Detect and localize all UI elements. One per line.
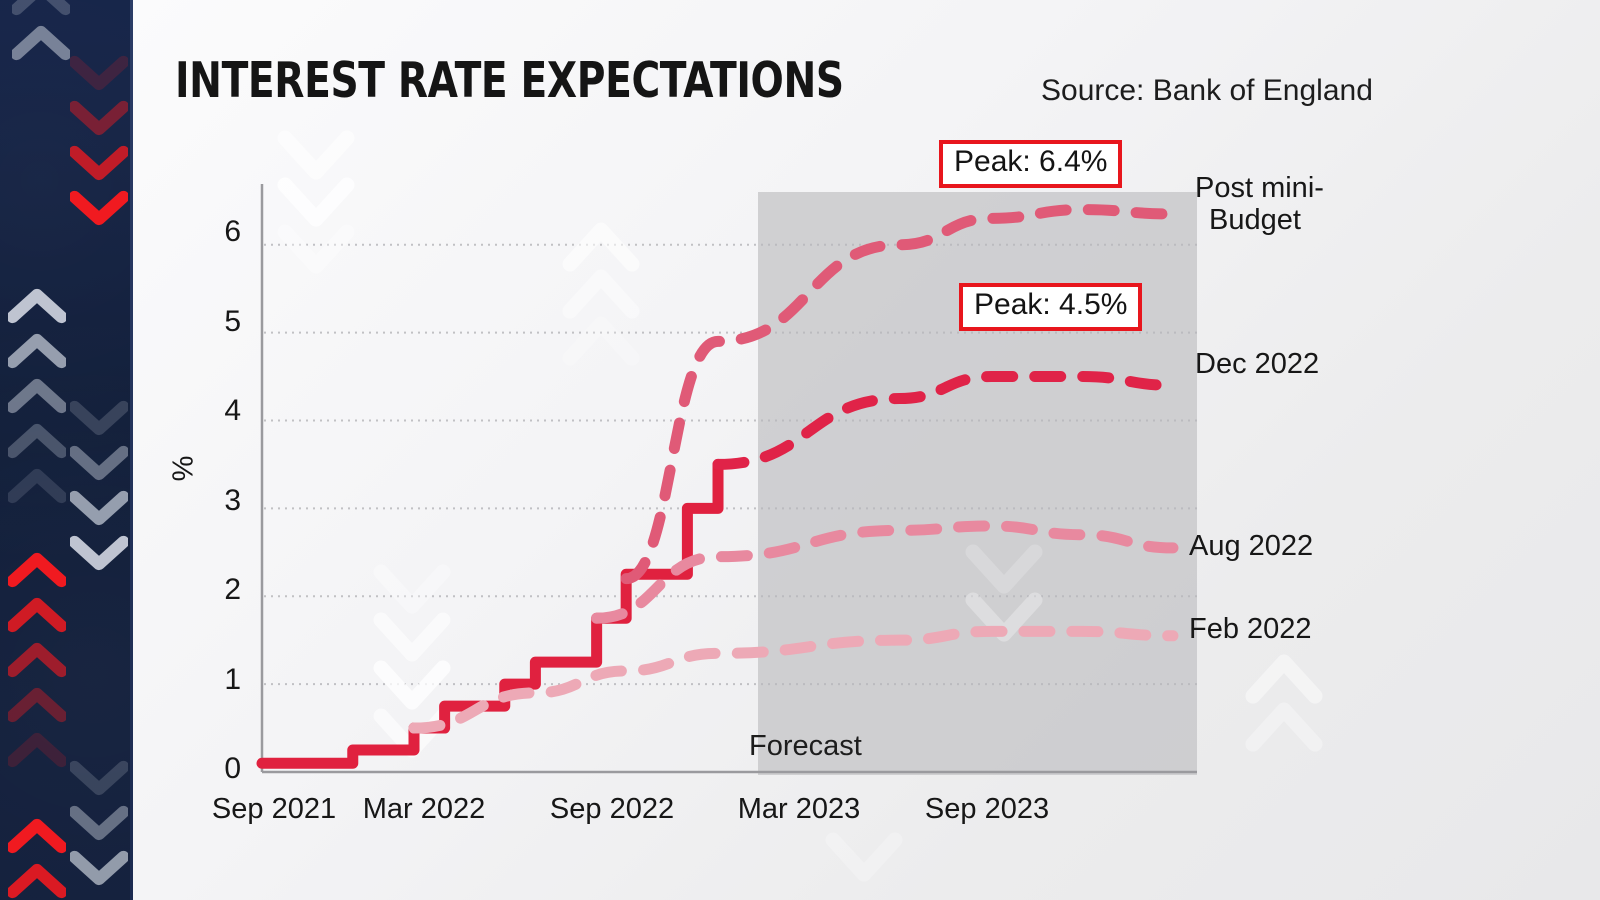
watermark-chevron [570, 230, 632, 264]
chevron-red-up-1 [8, 597, 66, 633]
watermark-chevron [381, 620, 443, 654]
chevron-grey-up-mid-2 [8, 378, 66, 414]
chevron-grey-down-mid-0 [70, 400, 128, 436]
watermark-chevron [1253, 662, 1315, 696]
y-tick-1: 1 [195, 663, 241, 697]
chevron-grey-up-mid-0 [8, 288, 66, 324]
series-label-feb-2022: Feb 2022 [1189, 613, 1312, 645]
chevron-red-down-2 [70, 145, 128, 181]
chevron-grey-down-bot-2 [70, 850, 128, 886]
chevron-grey-down-mid-1 [70, 445, 128, 481]
chevron-red-up-2 [8, 642, 66, 678]
line-chart-plot [133, 0, 1600, 900]
series-label-post-mini-budget: Post mini- Budget [1195, 172, 1324, 237]
chevron-red-down-3 [70, 190, 128, 226]
chevron-grey-down-bot-1 [70, 805, 128, 841]
chevron-red-down-1 [70, 100, 128, 136]
y-tick-0: 0 [195, 752, 241, 786]
watermark-chevron [1253, 710, 1315, 744]
chevron-red-down-0 [70, 55, 128, 91]
series-label-line-1: Post mini- [1195, 172, 1324, 204]
chevron-red-up-0 [8, 552, 66, 588]
y-axis-title: % [167, 456, 200, 482]
y-tick-4: 4 [195, 394, 241, 428]
y-tick-5: 5 [195, 305, 241, 339]
chevron-grey-up-top-0 [12, 0, 70, 16]
chevron-grey-up-mid-1 [8, 333, 66, 369]
chevron-grey-up-mid-3 [8, 423, 66, 459]
chevron-grey-down-bot-0 [70, 760, 128, 796]
series-label-line-2: Budget [1195, 204, 1324, 236]
decorative-sidebar [0, 0, 133, 900]
screenshot-root: INTEREST RATE EXPECTATIONS Source: Bank … [0, 0, 1600, 900]
watermark-chevron [570, 277, 632, 311]
watermark-chevron [285, 185, 347, 219]
watermark-chevron [570, 324, 632, 358]
chevron-grey-down-mid-2 [70, 490, 128, 526]
watermark-chevron [833, 840, 895, 874]
y-tick-2: 2 [195, 573, 241, 607]
chevron-red-up-bot-1 [8, 863, 66, 899]
chart-card: INTEREST RATE EXPECTATIONS Source: Bank … [133, 0, 1600, 900]
watermark-chevron [285, 232, 347, 266]
y-tick-3: 3 [195, 484, 241, 518]
y-tick-6: 6 [195, 215, 241, 249]
series-label-aug-2022: Aug 2022 [1189, 530, 1313, 562]
chevron-grey-up-top-1 [12, 25, 70, 61]
series-label-dec-2022: Dec 2022 [1195, 348, 1319, 380]
chevron-red-up-4 [8, 732, 66, 768]
watermark-chevron [381, 572, 443, 606]
chevron-red-up-3 [8, 687, 66, 723]
chevron-red-up-bot-0 [8, 818, 66, 854]
chevron-grey-up-mid-4 [8, 468, 66, 504]
forecast-label: Forecast [749, 730, 862, 763]
peak-annotation-mid: Peak: 4.5% [959, 283, 1142, 331]
peak-annotation-high: Peak: 6.4% [939, 140, 1122, 188]
x-tick-sep-2023: Sep 2023 [846, 793, 1128, 826]
chevron-grey-down-mid-3 [70, 535, 128, 571]
watermark-chevron [285, 138, 347, 172]
